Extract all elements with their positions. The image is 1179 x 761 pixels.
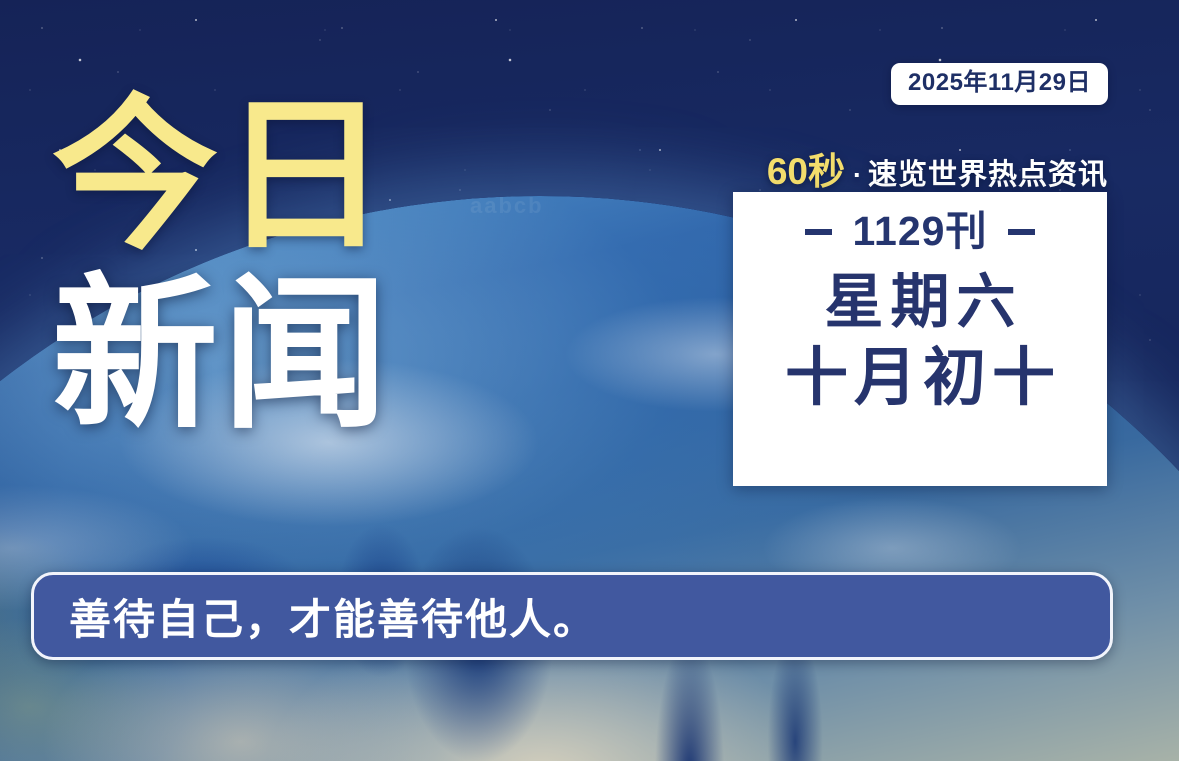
tagline-separator: · — [853, 160, 862, 191]
issue-info-card: 1129刊 星期六 十月初十 — [733, 192, 1107, 486]
issue-number: 1129刊 — [853, 211, 988, 252]
page-title: 今日 新闻 — [52, 96, 392, 436]
watermark-text: aabcb — [470, 193, 544, 219]
lunar-date-label: 十月初十 — [779, 345, 1061, 411]
quote-bar: 善待自己，才能善待他人。 — [31, 572, 1113, 660]
date-badge: 2025年11月29日 — [891, 63, 1108, 105]
dash-right-icon — [1008, 229, 1035, 235]
headline-line-2: 新闻 — [52, 275, 392, 436]
issue-row: 1129刊 — [805, 211, 1036, 252]
tagline: 60秒 · 速览世界热点资讯 — [767, 141, 1108, 195]
tagline-seconds: 60秒 — [767, 141, 845, 195]
headline-line-1: 今日 — [52, 96, 392, 257]
news-poster: aabcb 今日 新闻 2025年11月29日 60秒 · 速览世界热点资讯 1… — [0, 0, 1179, 761]
dash-left-icon — [805, 229, 832, 235]
tagline-text: 速览世界热点资讯 — [868, 151, 1108, 193]
weekday-label: 星期六 — [817, 272, 1022, 334]
quote-text: 善待自己，才能善待他人。 — [69, 586, 597, 647]
